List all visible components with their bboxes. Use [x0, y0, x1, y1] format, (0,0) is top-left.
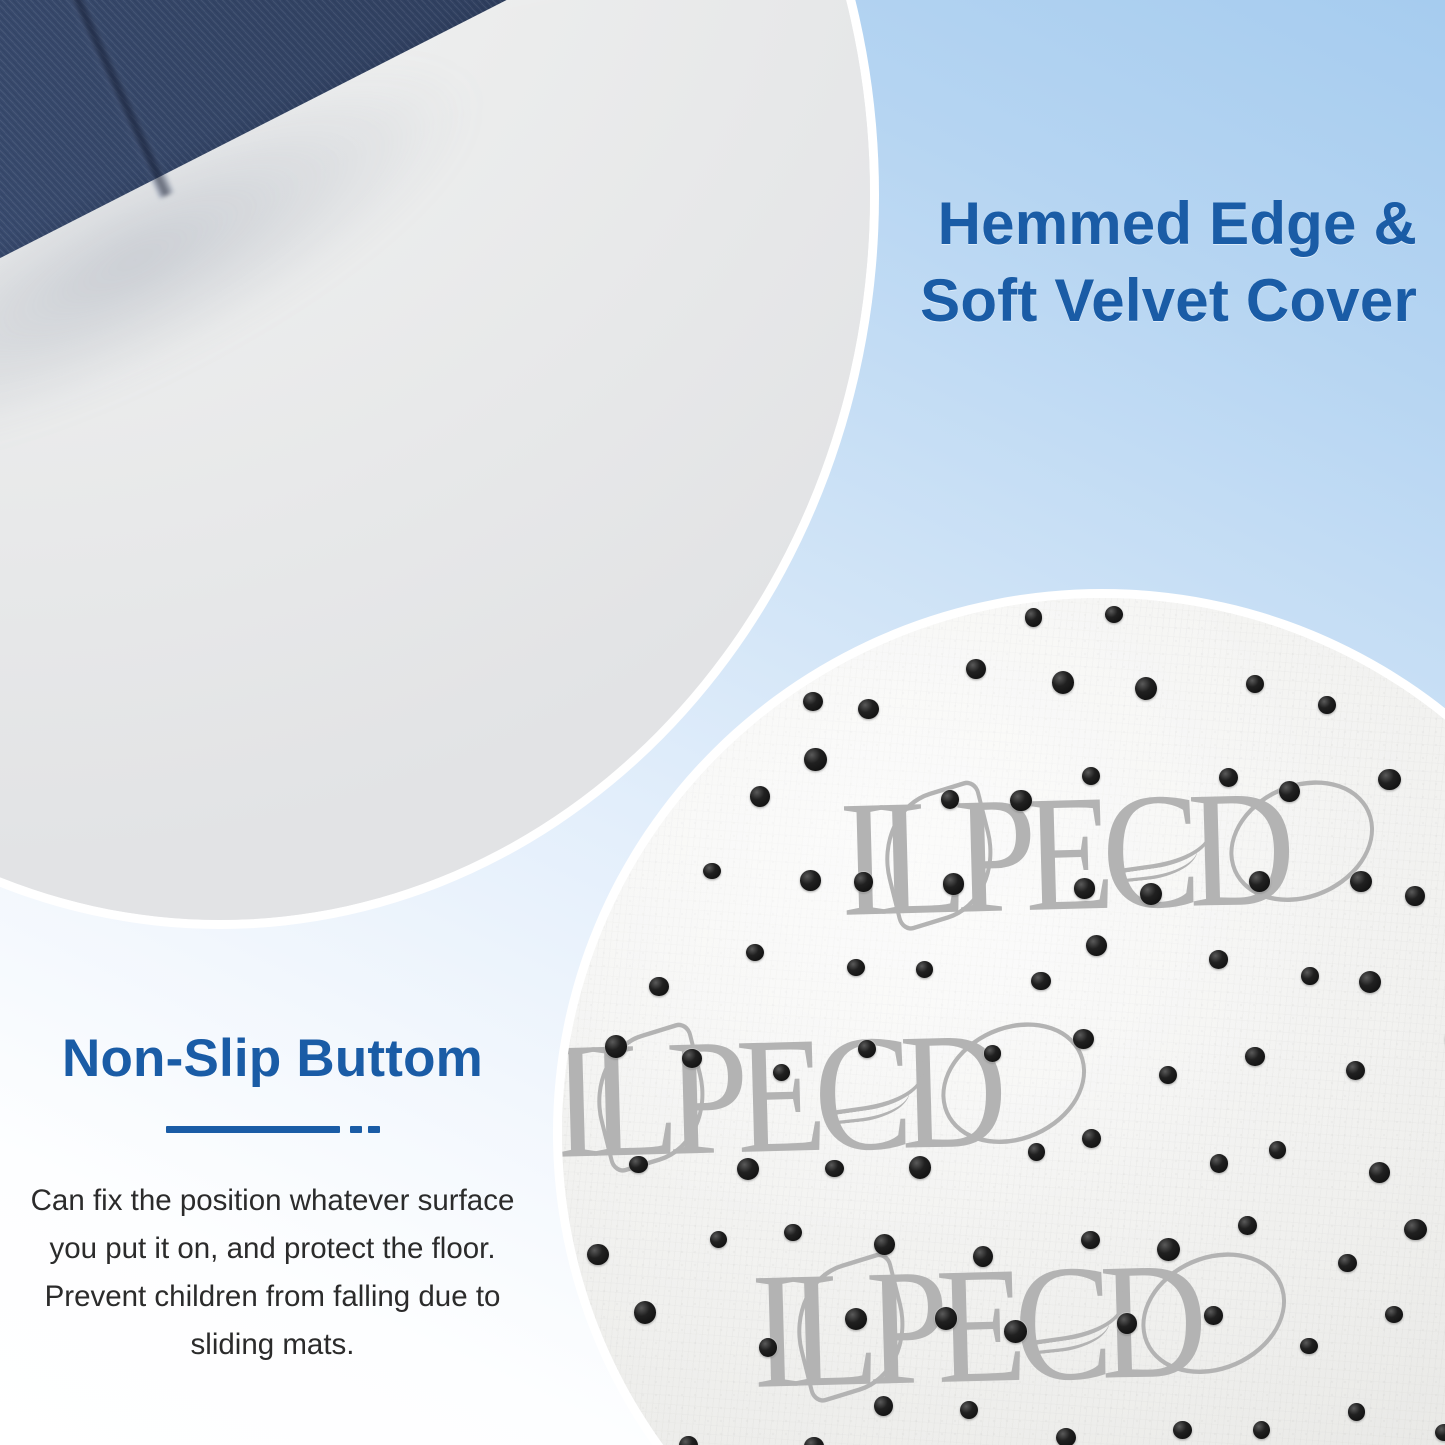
grip-dot	[1159, 1066, 1177, 1084]
grip-dot	[800, 870, 821, 890]
photo-non-slip-mat: ILPECD ILPECD ILPECD	[562, 598, 1445, 1445]
grip-dot	[710, 1231, 727, 1248]
grip-dot	[1405, 886, 1424, 906]
grip-dot	[804, 748, 827, 772]
grip-dot	[1269, 1141, 1286, 1158]
grip-dot	[804, 1437, 824, 1445]
grip-dot	[1025, 608, 1042, 626]
grip-dot	[1350, 871, 1372, 892]
grip-dot	[1301, 967, 1319, 986]
grip-dot	[1238, 1216, 1257, 1235]
grip-dot	[854, 872, 872, 891]
divider-dash-1	[350, 1126, 362, 1133]
grip-dot	[1086, 935, 1107, 956]
grip-dot	[966, 659, 986, 679]
headline-line-1: Hemmed Edge &	[920, 186, 1417, 263]
grip-dot	[847, 959, 865, 976]
grip-dot	[1369, 1162, 1390, 1183]
grip-dot	[1117, 1313, 1137, 1334]
grip-dot	[1056, 1428, 1076, 1445]
grip-dot	[1204, 1306, 1223, 1325]
grip-dot	[1210, 1154, 1228, 1172]
grip-dot	[1157, 1238, 1180, 1261]
headline: Hemmed Edge & Soft Velvet Cover	[920, 186, 1417, 340]
grip-dot	[1140, 883, 1162, 905]
infographic-canvas: ILPECD ILPECD ILPECD Hemmed Edge & Soft …	[0, 0, 1445, 1445]
grip-dot	[825, 1160, 843, 1177]
grip-dot	[1378, 769, 1400, 790]
brand-watermark: ILPECD	[838, 766, 1285, 943]
grip-dot	[1073, 1029, 1094, 1049]
grip-dot	[943, 873, 965, 895]
grip-dot	[1318, 696, 1336, 714]
divider-bar	[166, 1126, 340, 1133]
grip-dot	[773, 1064, 790, 1081]
grip-dot	[960, 1401, 978, 1419]
grip-dot	[1245, 1047, 1264, 1066]
grip-dot	[1004, 1320, 1027, 1343]
grip-dot	[649, 977, 668, 996]
headline-line-2: Soft Velvet Cover	[920, 263, 1417, 340]
grip-dot	[784, 1224, 802, 1242]
feature-description: Can fix the position whatever surface yo…	[0, 1177, 545, 1368]
grip-dot	[759, 1338, 777, 1357]
grip-dot	[1173, 1421, 1192, 1439]
grip-dot	[1300, 1338, 1318, 1355]
grip-dot	[1082, 1129, 1101, 1148]
grip-dot	[916, 961, 934, 978]
feature-title: Non-Slip Buttom	[0, 1030, 545, 1088]
grip-dot	[1074, 878, 1096, 899]
grip-dot	[1105, 606, 1123, 623]
grip-dot	[845, 1308, 868, 1330]
grip-dot	[1385, 1306, 1403, 1323]
grip-dot	[1031, 972, 1051, 991]
grip-dot	[858, 1040, 876, 1058]
grip-dot	[1253, 1421, 1270, 1439]
grip-dot	[750, 786, 770, 807]
grip-dot	[1010, 790, 1032, 812]
grip-dot	[1359, 971, 1381, 993]
title-divider	[166, 1126, 380, 1133]
grip-dot	[984, 1045, 1001, 1061]
grip-dot	[1209, 950, 1229, 969]
grip-dot	[682, 1049, 702, 1067]
grip-dot	[1348, 1403, 1365, 1420]
grip-dot	[1338, 1254, 1357, 1272]
grip-dot	[874, 1234, 896, 1255]
feature-block-non-slip: Non-Slip Buttom Can fix the position wha…	[0, 1030, 545, 1368]
grip-dot	[1404, 1219, 1426, 1241]
grip-dot	[1135, 677, 1157, 700]
grip-dot	[935, 1307, 957, 1329]
brand-watermark: ILPECD	[562, 1008, 997, 1185]
divider-dash-2	[368, 1126, 380, 1133]
grip-dot	[874, 1396, 893, 1416]
